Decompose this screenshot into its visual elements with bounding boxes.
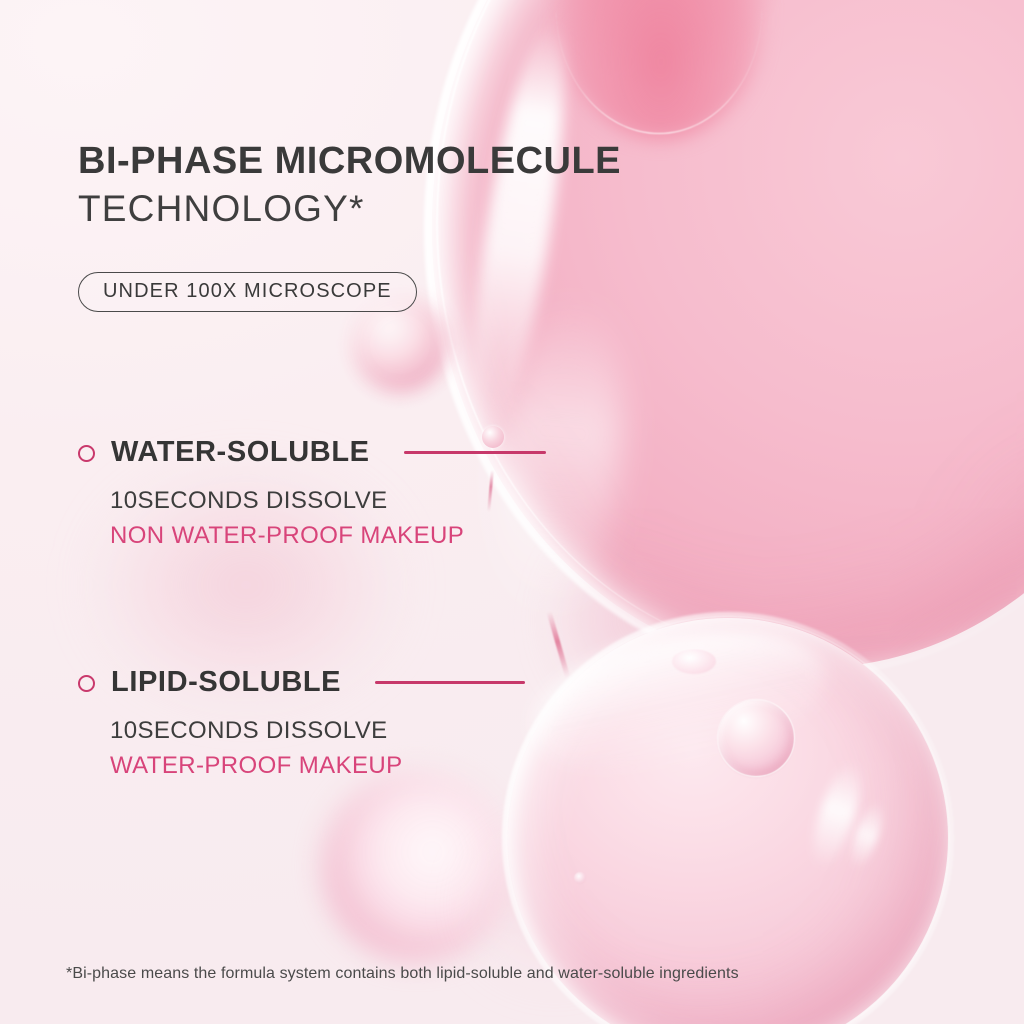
content-layer: BI-PHASE MICROMOLECULE TECHNOLOGY* UNDER… (0, 0, 1024, 1024)
feature-divider-line (404, 451, 546, 454)
headline-line-1: BI-PHASE MICROMOLECULE (78, 140, 621, 182)
feature-detail-accent: NON WATER-PROOF MAKEUP (110, 520, 546, 552)
microscope-badge: UNDER 100X MICROSCOPE (78, 272, 417, 312)
circle-outline-icon (78, 445, 95, 462)
feature-details: 10SECONDS DISSOLVE WATER-PROOF MAKEUP (110, 715, 525, 783)
feature-heading-row: LIPID-SOLUBLE (78, 666, 525, 699)
feature-title-lipid-soluble: LIPID-SOLUBLE (111, 666, 341, 699)
feature-title-water-soluble: WATER-SOLUBLE (111, 436, 370, 469)
headline-line-2: TECHNOLOGY* (78, 190, 621, 228)
feature-divider-line (375, 681, 525, 684)
page-title: BI-PHASE MICROMOLECULE TECHNOLOGY* (78, 142, 621, 227)
feature-detail-primary: 10SECONDS DISSOLVE (110, 485, 546, 517)
feature-details: 10SECONDS DISSOLVE NON WATER-PROOF MAKEU… (110, 485, 546, 553)
feature-block-water-soluble: WATER-SOLUBLE 10SECONDS DISSOLVE NON WAT… (78, 436, 546, 553)
feature-detail-primary: 10SECONDS DISSOLVE (110, 715, 525, 747)
circle-outline-icon (78, 675, 95, 692)
feature-heading-row: WATER-SOLUBLE (78, 436, 546, 469)
footnote: *Bi-phase means the formula system conta… (66, 965, 739, 983)
feature-detail-accent: WATER-PROOF MAKEUP (110, 750, 525, 782)
feature-block-lipid-soluble: LIPID-SOLUBLE 10SECONDS DISSOLVE WATER-P… (78, 666, 525, 783)
promo-stage: BI-PHASE MICROMOLECULE TECHNOLOGY* UNDER… (0, 0, 1024, 1024)
